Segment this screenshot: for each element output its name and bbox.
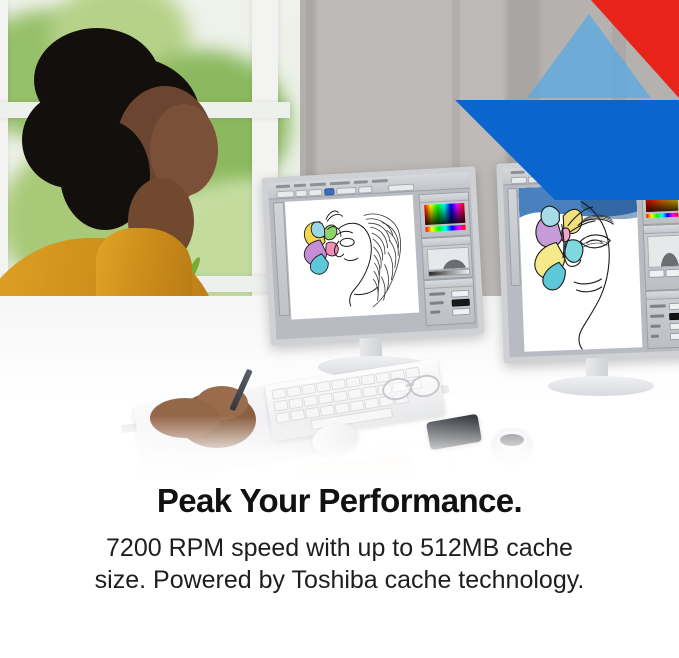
histogram-graph bbox=[427, 247, 470, 271]
key[interactable] bbox=[364, 397, 379, 409]
key[interactable] bbox=[271, 388, 286, 400]
product-ad-banner: Peak Your Performance. 7200 RPM speed wi… bbox=[0, 0, 679, 658]
color-panel-title bbox=[420, 193, 468, 204]
menu-item[interactable] bbox=[330, 181, 350, 185]
effects-label bbox=[651, 325, 661, 328]
effects-color-swatch[interactable] bbox=[452, 299, 470, 307]
menu-item[interactable] bbox=[310, 183, 326, 187]
photo-fade bbox=[0, 416, 679, 486]
ad-subcopy: 7200 RPM speed with up to 512MB cache si… bbox=[80, 532, 600, 597]
monitor-base bbox=[548, 376, 654, 396]
color-picker-field[interactable] bbox=[424, 203, 465, 225]
effects-field[interactable] bbox=[669, 323, 679, 331]
key[interactable] bbox=[349, 400, 364, 412]
toolbar-button[interactable] bbox=[528, 176, 540, 183]
artwork-canvas[interactable] bbox=[518, 183, 642, 351]
menu-item[interactable] bbox=[276, 185, 290, 189]
toolbar-button[interactable] bbox=[511, 177, 527, 185]
key[interactable] bbox=[360, 374, 375, 386]
key[interactable] bbox=[320, 404, 335, 416]
butterfly-artwork bbox=[285, 195, 419, 320]
histogram-graph bbox=[647, 235, 679, 268]
key[interactable] bbox=[362, 386, 377, 398]
effects-label bbox=[429, 292, 445, 296]
color-picker-field[interactable] bbox=[646, 193, 679, 212]
toolbar-button[interactable] bbox=[553, 175, 571, 183]
toolbar-button-active[interactable] bbox=[541, 176, 552, 183]
key[interactable] bbox=[345, 376, 360, 388]
toolbar-field[interactable] bbox=[388, 184, 414, 192]
toolbar-button[interactable] bbox=[336, 187, 356, 195]
primary-monitor[interactable] bbox=[261, 166, 484, 346]
menu-item[interactable] bbox=[372, 179, 388, 183]
key[interactable] bbox=[286, 385, 301, 397]
effects-field[interactable] bbox=[669, 303, 679, 311]
key[interactable] bbox=[333, 390, 348, 402]
menu-item[interactable] bbox=[566, 168, 580, 172]
levels-ramp[interactable] bbox=[428, 269, 470, 277]
color-panel[interactable] bbox=[419, 192, 471, 239]
ad-copy: Peak Your Performance. 7200 RPM speed wi… bbox=[0, 482, 679, 597]
histogram-curve bbox=[647, 236, 679, 267]
menu-item[interactable] bbox=[294, 184, 306, 188]
toolbar-button[interactable] bbox=[276, 190, 294, 198]
histogram-curve bbox=[427, 247, 470, 270]
hue-slider[interactable] bbox=[646, 213, 678, 218]
toolbar-button-active[interactable] bbox=[324, 188, 334, 196]
color-panel-title bbox=[642, 183, 679, 192]
effects-label bbox=[650, 314, 664, 318]
histogram-panel[interactable] bbox=[643, 224, 679, 291]
histogram-panel[interactable] bbox=[421, 235, 473, 280]
effects-field[interactable] bbox=[452, 308, 470, 316]
key[interactable] bbox=[288, 397, 303, 409]
effects-color-swatch[interactable] bbox=[669, 313, 679, 321]
color-panel[interactable] bbox=[641, 182, 679, 226]
key[interactable] bbox=[316, 381, 331, 393]
hue-slider[interactable] bbox=[425, 225, 465, 232]
menu-item[interactable] bbox=[529, 170, 541, 173]
effects-field[interactable] bbox=[670, 333, 679, 341]
effects-label bbox=[430, 310, 440, 314]
effects-field[interactable] bbox=[451, 290, 469, 298]
primary-monitor-screen bbox=[268, 171, 478, 339]
effects-panel[interactable] bbox=[645, 290, 679, 349]
histogram-panel-title bbox=[644, 225, 679, 234]
secondary-monitor[interactable] bbox=[496, 156, 679, 363]
effects-panel[interactable] bbox=[423, 277, 475, 326]
artwork-canvas[interactable] bbox=[285, 195, 419, 320]
butterfly-detail-artwork bbox=[518, 183, 642, 351]
effects-panel-title bbox=[424, 278, 472, 289]
histogram-button[interactable] bbox=[665, 269, 679, 278]
lifestyle-photo bbox=[0, 0, 679, 486]
effects-panel-title bbox=[646, 291, 679, 300]
histogram-panel-title bbox=[422, 237, 470, 248]
key[interactable] bbox=[331, 378, 346, 390]
page-title: Peak Your Performance. bbox=[0, 482, 679, 520]
menu-item[interactable] bbox=[511, 171, 525, 175]
key[interactable] bbox=[301, 383, 316, 395]
menu-item[interactable] bbox=[354, 180, 368, 184]
effects-label bbox=[651, 335, 659, 338]
key[interactable] bbox=[334, 402, 349, 414]
key[interactable] bbox=[318, 393, 333, 405]
effects-label bbox=[430, 301, 444, 305]
toolbar-button[interactable] bbox=[358, 186, 372, 194]
toolbar-button[interactable] bbox=[295, 190, 307, 198]
histogram-button[interactable] bbox=[648, 269, 664, 278]
key[interactable] bbox=[303, 395, 318, 407]
key[interactable] bbox=[273, 400, 288, 412]
key[interactable] bbox=[347, 388, 362, 400]
menu-item[interactable] bbox=[545, 169, 563, 173]
effects-label bbox=[650, 304, 666, 308]
secondary-monitor-screen bbox=[502, 162, 679, 358]
toolbar-button[interactable] bbox=[308, 189, 322, 197]
